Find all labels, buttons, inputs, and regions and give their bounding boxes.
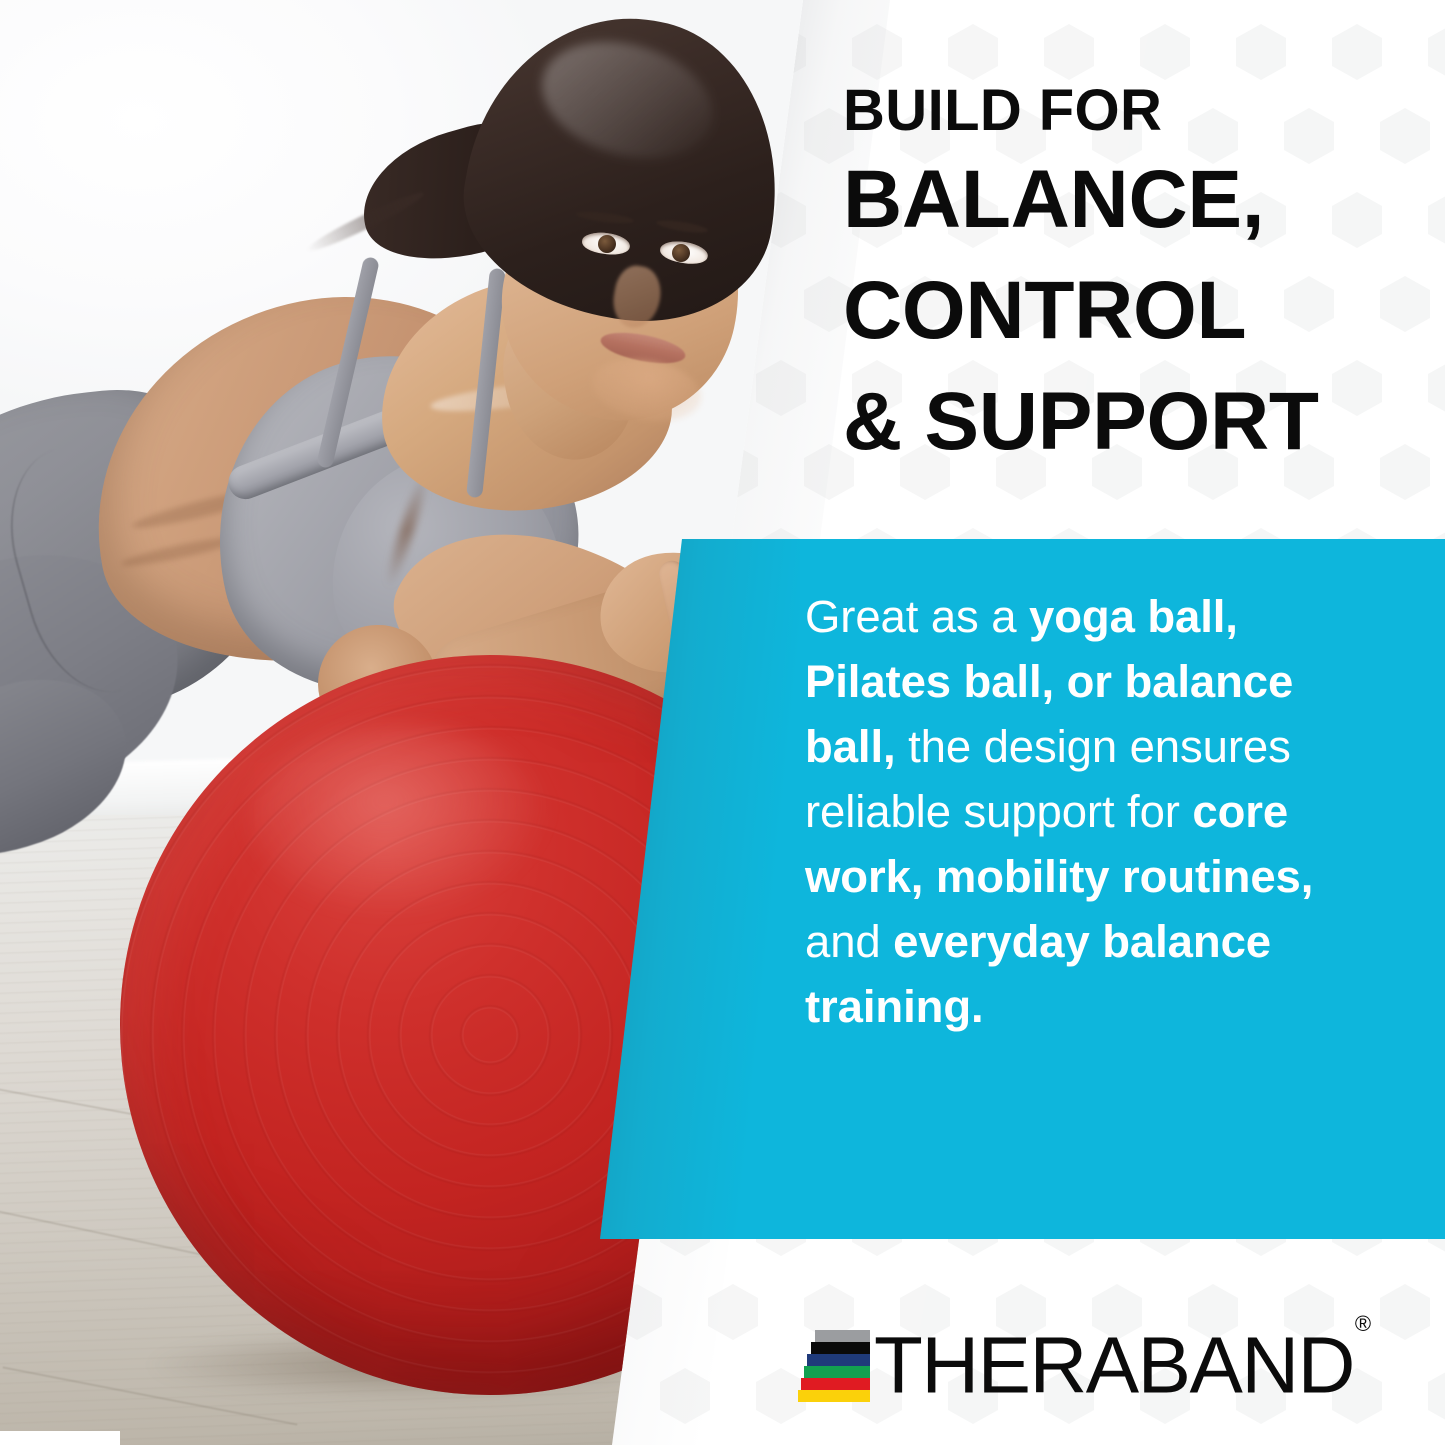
page-title: BUILD FOR BALANCE, CONTROL & SUPPORT — [843, 78, 1423, 477]
exercise-ball-highlight — [250, 725, 550, 915]
headline-line-3: CONTROL — [843, 255, 1423, 366]
logo-bar-silver — [815, 1330, 870, 1342]
logo-bar-blue — [807, 1354, 870, 1366]
photo-bottom-edge — [0, 1431, 120, 1445]
logo-bar-green — [804, 1366, 870, 1378]
callout-run: and — [805, 916, 893, 967]
callout-text: Great as a yoga ball, Pilates ball, or b… — [805, 584, 1395, 1039]
headline-line-2: BALANCE, — [843, 144, 1423, 255]
brand-name: THERABAND — [874, 1321, 1354, 1410]
headline-line-1: BUILD FOR — [843, 78, 1423, 144]
logo-bar-red — [801, 1378, 870, 1390]
registered-trademark-icon: ® — [1355, 1311, 1371, 1336]
product-marketing-image: Great as a yoga ball, Pilates ball, or b… — [0, 0, 1445, 1445]
logo-bar-black — [811, 1342, 870, 1354]
model-iris — [598, 235, 616, 253]
model-iris — [672, 244, 690, 262]
brand-wordmark: THERABAND® — [874, 1319, 1370, 1405]
theraband-resistance-bars-icon — [798, 1330, 870, 1402]
brand-logo: THERABAND® — [798, 1319, 1370, 1405]
headline-line-4: & SUPPORT — [843, 366, 1423, 477]
logo-bar-yellow — [798, 1390, 870, 1402]
callout-run: Great as a — [805, 591, 1029, 642]
